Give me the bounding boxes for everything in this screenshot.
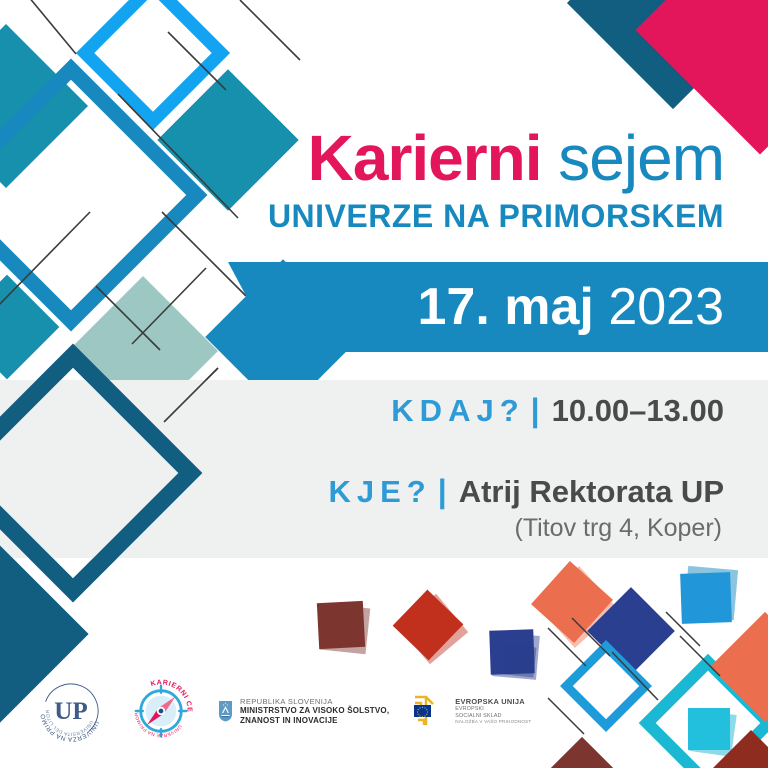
hairline-3	[118, 94, 238, 218]
compass-icon: KARIERNI CENTER UNIVERZE NA PRIMORSKEM	[126, 676, 196, 746]
when-separator: |	[531, 392, 540, 429]
government-text: REPUBLIKA SLOVENIJA MINISTRSTVO ZA VISOK…	[240, 697, 389, 726]
diamond-coral-shadow	[536, 566, 618, 648]
hairline-band-1	[164, 368, 218, 422]
poster-canvas: 17. maj 2023 Karierni sejem UNIVERZE NA …	[0, 0, 768, 768]
hairline-7	[96, 286, 160, 350]
logo-strip: UNIVERZA NA PRIMORSKEM UNIVERSITA DEL LI…	[38, 676, 531, 746]
slovenia-coat-of-arms-icon	[218, 700, 233, 722]
square-maroon-group	[317, 601, 370, 654]
government-line2: MINISTRSTVO ZA VISOKO ŠOLSTVO,	[240, 706, 389, 716]
diamond-sky-outline-top	[85, 0, 221, 121]
when-label: KDAJ?	[391, 393, 524, 429]
diamond-coral	[531, 561, 613, 643]
diamond-cyan-outline-large	[647, 662, 768, 768]
hairline-8	[164, 368, 218, 422]
hairline-b6	[548, 628, 586, 666]
hairline-9	[240, 0, 300, 60]
title-word-karierni: Karierni	[308, 122, 542, 194]
square-blue-cluster-group	[680, 566, 738, 624]
title-block: Karierni sejem UNIVERZE NA PRIMORSKEM	[268, 126, 724, 232]
square-navy-far-left-shadow	[504, 645, 537, 678]
when-value: 10.00–13.00	[552, 393, 724, 429]
diamond-sage-filled	[68, 276, 218, 426]
where-value: Atrij Rektorata UP	[459, 474, 724, 510]
diamond-teal-filled-left	[0, 24, 88, 188]
date-banner: 17. maj 2023	[228, 262, 768, 352]
eu-line2: EVROPSKI	[455, 706, 531, 713]
square-maroon	[317, 601, 365, 649]
eu-line1: EVROPSKA UNIJA	[455, 697, 531, 706]
government-line1: REPUBLIKA SLOVENIJA	[240, 697, 389, 706]
where-label: KJE?	[329, 474, 432, 510]
hairline-b1	[572, 618, 610, 656]
date-text: 17. maj 2023	[418, 281, 768, 333]
info-block: KDAJ? | 10.00–13.00 KJE? | Atrij Rektora…	[264, 392, 724, 543]
diamond-coral-right	[710, 612, 768, 722]
diamond-navy-large	[587, 587, 675, 675]
hairline-2	[168, 32, 226, 90]
diamond-blue-outline-large	[0, 69, 197, 321]
title-word-sejem: sejem	[558, 122, 724, 194]
hairline-b2	[612, 652, 658, 700]
hairline-6	[132, 268, 206, 344]
decorative-background	[0, 0, 768, 768]
government-line3: ZNANOST IN INOVACIJE	[240, 716, 389, 726]
eu-text: EVROPSKA UNIJA EVROPSKI SOCIALNI SKLAD N…	[455, 697, 531, 725]
square-blue-shadow	[684, 566, 738, 620]
square-navy-mid	[489, 629, 535, 675]
square-maroon-shadow	[320, 604, 371, 655]
hairline-bottom-group	[548, 612, 720, 734]
diamond-red-group	[393, 590, 469, 665]
square-navy-mid-group	[489, 629, 540, 680]
square-cyan-inner-group	[688, 708, 737, 757]
square-navy-mid-shadow	[492, 632, 540, 680]
eu-esf-icon	[411, 694, 449, 728]
hairline-b5	[666, 612, 700, 646]
square-blue	[680, 572, 732, 624]
hairline-5	[0, 212, 90, 310]
square-cyan-inner-shadow	[689, 709, 736, 756]
diamond-red-shadow	[398, 594, 468, 664]
diamond-blue-outline-bottom	[566, 646, 645, 725]
hairline-b3	[680, 636, 720, 676]
poster-subtitle: UNIVERZE NA PRIMORSKEM	[268, 200, 724, 232]
logo-government-slovenia: REPUBLIKA SLOVENIJA MINISTRSTVO ZA VISOK…	[218, 697, 389, 726]
diamond-maroon-bottom-center	[544, 737, 620, 768]
square-cyan-inner	[688, 708, 730, 750]
eu-line4: NALOŽBA V VAŠO PRIHODNOST	[455, 719, 531, 725]
up-logo-icon: UNIVERZA NA PRIMORSKEM UNIVERSITA DEL LI…	[38, 678, 104, 744]
diamond-teal-small-left	[0, 275, 59, 380]
logo-university-primorska: UNIVERZA NA PRIMORSKEM UNIVERSITA DEL LI…	[38, 678, 104, 744]
logo-european-union: EVROPSKA UNIJA EVROPSKI SOCIALNI SKLAD N…	[411, 694, 531, 728]
date-year: 2023	[608, 278, 724, 336]
diamond-darkteal-outline-lower	[0, 356, 190, 591]
diamond-darkteal-outline-over-band	[0, 356, 190, 591]
hairline-group	[0, 0, 300, 422]
square-navy-far-left-group	[504, 645, 537, 678]
hairline-4	[162, 212, 246, 296]
poster-title: Karierni sejem	[268, 126, 724, 190]
logo-karierni-center: KARIERNI CENTER UNIVERZE NA PRIMORSKEM	[126, 676, 196, 746]
where-separator: |	[438, 473, 447, 510]
hairline-b4	[548, 698, 584, 734]
date-day: 17. maj	[418, 278, 594, 336]
diamond-darkred-bottom	[710, 730, 768, 768]
where-note: (Titov trg 4, Koper)	[264, 514, 724, 543]
diamond-coral-group	[531, 561, 618, 648]
hairline-1	[28, 0, 76, 54]
diamond-dark-teal-topright	[567, 0, 768, 109]
svg-text:UP: UP	[54, 698, 87, 725]
info-row-where: KJE? | Atrij Rektorata UP	[264, 473, 724, 510]
diamond-red	[393, 590, 464, 661]
info-row-when: KDAJ? | 10.00–13.00	[264, 392, 724, 429]
